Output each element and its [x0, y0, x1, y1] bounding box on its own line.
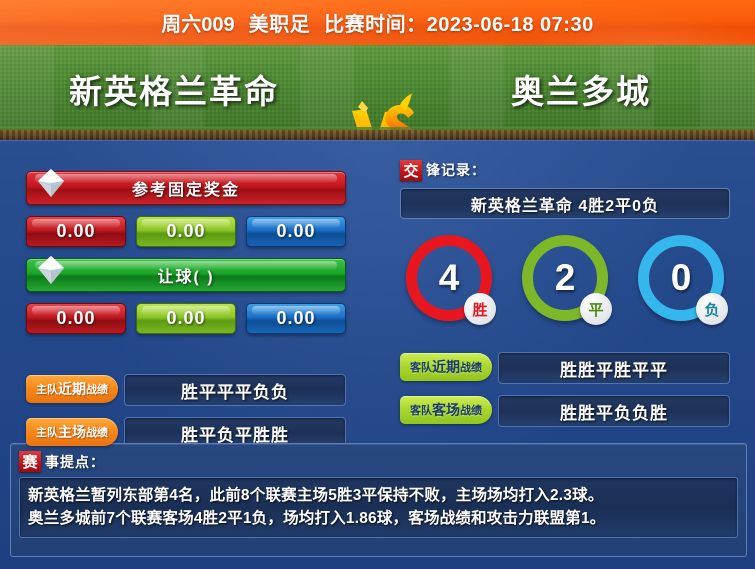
ring-label: 胜 — [464, 293, 496, 325]
box-highlight — [32, 219, 120, 228]
tag-suffix: 战绩 — [86, 381, 108, 397]
match-time-wrap: 比赛时间：2023-06-18 07:30 — [324, 8, 594, 37]
spacer — [400, 321, 730, 339]
home-home-record-tag: 主队主场战绩 — [26, 418, 118, 446]
tag-suffix: 战绩 — [86, 424, 108, 440]
tag-middle: 主场 — [58, 422, 86, 442]
fixed-bonus-title: 参考固定奖金 — [132, 176, 240, 200]
header-content: 周六009 美职足 比赛时间：2023-06-18 07:30 — [0, 0, 755, 45]
match-time-value: 2023-06-18 07:30 — [427, 14, 594, 36]
diamond-icon — [31, 164, 71, 204]
spacer — [26, 247, 346, 258]
h2h-header: 交 锋记录： — [400, 159, 730, 181]
box-highlight — [32, 306, 120, 315]
notes-badge: 赛 — [19, 451, 41, 472]
tag-middle: 客场 — [432, 400, 460, 420]
tag-middle: 近期 — [58, 379, 86, 399]
home-recent-record-value: 胜平平平负负 — [124, 374, 346, 406]
spacer — [26, 334, 346, 361]
handicap-odds-home[interactable]: 0.00 — [26, 303, 126, 334]
h2h-ring-draw: 2 平 — [522, 235, 608, 321]
notes-line: 奥兰多城前7个联赛客场4胜2平1负，场均打入1.86球，客场战绩和攻击力联盟第1… — [28, 507, 729, 530]
match-time-label: 比赛时间： — [324, 14, 427, 36]
tag-prefix: 主队 — [36, 381, 58, 397]
teams-banner: 新英格兰革命 奥兰多城 — [0, 45, 755, 140]
handicap-odds-away[interactable]: 0.00 — [246, 303, 346, 334]
league-name: 美职足 — [249, 8, 311, 37]
notes-title: 事提点： — [45, 452, 105, 472]
odds-home-win[interactable]: 0.00 — [26, 216, 126, 247]
tag-suffix: 战绩 — [460, 359, 482, 375]
h2h-title: 锋记录： — [426, 160, 486, 180]
notes-header: 赛 事提点： — [11, 444, 746, 472]
odds-draw[interactable]: 0.00 — [136, 216, 236, 247]
fixed-bonus-odds-row: 0.00 0.00 0.00 — [26, 216, 346, 247]
box-highlight — [252, 219, 340, 228]
pitch-dirt-strip — [0, 130, 755, 140]
away-away-record-value: 胜胜平负负胜 — [498, 395, 730, 427]
home-recent-record-tag: 主队近期战绩 — [26, 375, 118, 403]
info-board: 参考固定奖金 0.00 0.00 0.00 — [0, 140, 755, 569]
ring-label: 负 — [696, 293, 728, 325]
away-recent-record-value: 胜胜平胜平平 — [498, 352, 730, 384]
ring-label: 平 — [580, 293, 612, 325]
away-away-record-row: 客队客场战绩 胜胜平负负胜 — [400, 395, 730, 425]
match-number: 周六009 — [161, 8, 234, 37]
handicap-odds-draw[interactable]: 0.00 — [136, 303, 236, 334]
diamond-icon — [31, 251, 71, 291]
fixed-bonus-title-bar[interactable]: 参考固定奖金 — [26, 171, 346, 205]
home-recent-record-row: 主队近期战绩 胜平平平负负 — [26, 374, 346, 404]
box-highlight — [142, 306, 230, 315]
h2h-ring-win: 4 胜 — [406, 235, 492, 321]
tag-prefix: 客队 — [410, 402, 432, 418]
notes-line: 新英格兰暂列东部第4名，此前8个联赛主场5胜3平保持不败，主场场均打入2.3球。 — [28, 484, 729, 507]
away-recent-record-row: 客队近期战绩 胜胜平胜平平 — [400, 352, 730, 382]
away-team-name: 奥兰多城 — [431, 65, 731, 113]
match-preview-card: 周六009 美职足 比赛时间：2023-06-18 07:30 新英格兰革命 奥… — [0, 0, 755, 569]
handicap-odds-row: 0.00 0.00 0.00 — [26, 303, 346, 334]
h2h-rings: 4 胜 2 平 0 负 — [400, 235, 730, 321]
notes-body: 新英格兰暂列东部第4名，此前8个联赛主场5胜3平保持不败，主场场均打入2.3球。… — [19, 477, 738, 538]
handicap-title-bar[interactable]: 让球( ) — [26, 258, 346, 292]
odds-away-win[interactable]: 0.00 — [246, 216, 346, 247]
home-team-name: 新英格兰革命 — [24, 65, 324, 113]
handicap-title: 让球( ) — [157, 263, 214, 287]
tag-prefix: 主队 — [36, 424, 58, 440]
away-away-record-tag: 客队客场战绩 — [400, 396, 492, 424]
tag-middle: 近期 — [432, 357, 460, 377]
header-bar: 周六009 美职足 比赛时间：2023-06-18 07:30 — [0, 0, 755, 45]
head-to-head-panel: 交 锋记录： 新英格兰革命 4胜2平0负 4 胜 2 平 0 — [400, 159, 730, 425]
tag-suffix: 战绩 — [460, 402, 482, 418]
box-highlight — [252, 306, 340, 315]
away-recent-record-tag: 客队近期战绩 — [400, 353, 492, 381]
tag-prefix: 客队 — [410, 359, 432, 375]
odds-panel: 参考固定奖金 0.00 0.00 0.00 — [26, 171, 346, 447]
match-notes-panel: 赛 事提点： 新英格兰暂列东部第4名，此前8个联赛主场5胜3平保持不败，主场场均… — [10, 443, 747, 557]
h2h-badge: 交 — [400, 160, 422, 181]
box-highlight — [142, 219, 230, 228]
h2h-summary: 新英格兰革命 4胜2平0负 — [400, 188, 730, 219]
h2h-ring-loss: 0 负 — [638, 235, 724, 321]
